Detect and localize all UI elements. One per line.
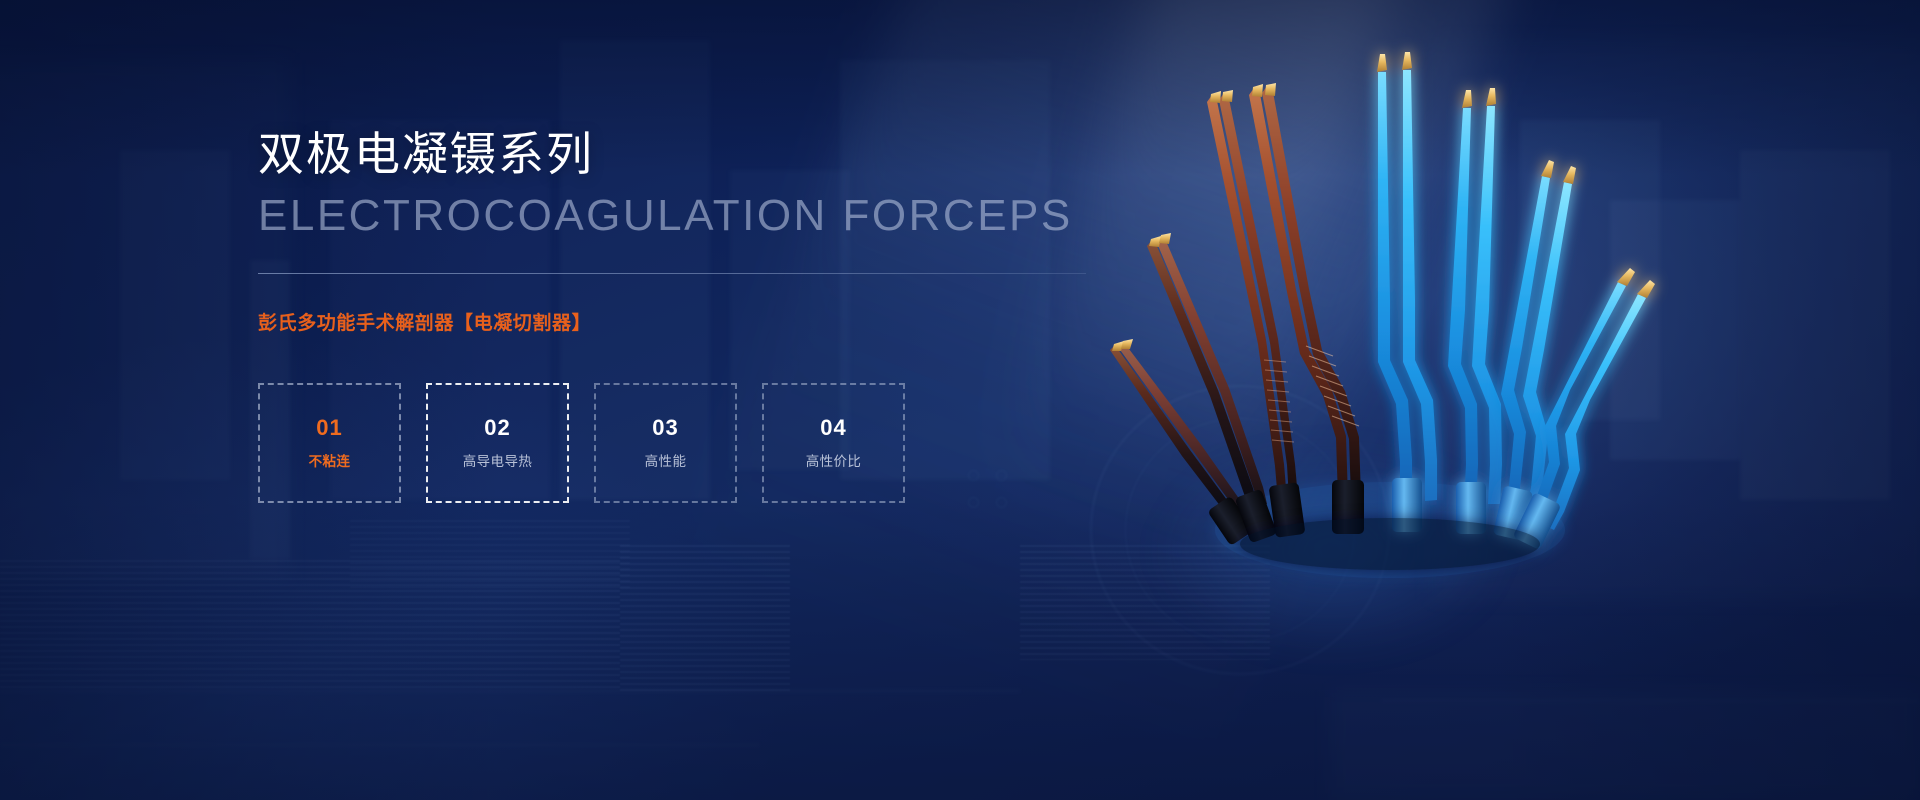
page-title-en: ELECTROCOAGULATION FORCEPS [258, 193, 1098, 239]
feature-label: 不粘连 [309, 455, 351, 469]
feature-box-04[interactable]: 04 高性价比 [762, 383, 905, 503]
banner-stage: 双极电凝镊系列 ELECTROCOAGULATION FORCEPS 彭氏多功能… [0, 0, 1920, 800]
forceps-blue-2 [1448, 88, 1502, 534]
feature-number: 01 [316, 417, 342, 439]
feature-box-02[interactable]: 02 高导电导热 [426, 383, 569, 503]
feature-box-03[interactable]: 03 高性能 [594, 383, 737, 503]
banner-content: 双极电凝镊系列 ELECTROCOAGULATION FORCEPS 彭氏多功能… [258, 128, 1098, 503]
feature-box-01[interactable]: 01 不粘连 [258, 383, 401, 503]
product-image-forceps [1090, 60, 1690, 620]
feature-number: 03 [652, 417, 678, 439]
feature-number: 02 [484, 417, 510, 439]
feature-box-list: 01 不粘连 02 高导电导热 03 高性能 04 高性价比 [258, 383, 1098, 503]
feature-label: 高性价比 [806, 455, 862, 469]
feature-number: 04 [820, 417, 846, 439]
feature-label: 高导电导热 [463, 455, 533, 469]
page-title-cn: 双极电凝镊系列 [258, 128, 1098, 181]
forceps-blue-1 [1377, 52, 1437, 532]
product-subtitle: 彭氏多功能手术解剖器【电凝切割器】 [258, 308, 1098, 335]
feature-label: 高性能 [645, 455, 687, 469]
title-divider [258, 273, 1086, 274]
